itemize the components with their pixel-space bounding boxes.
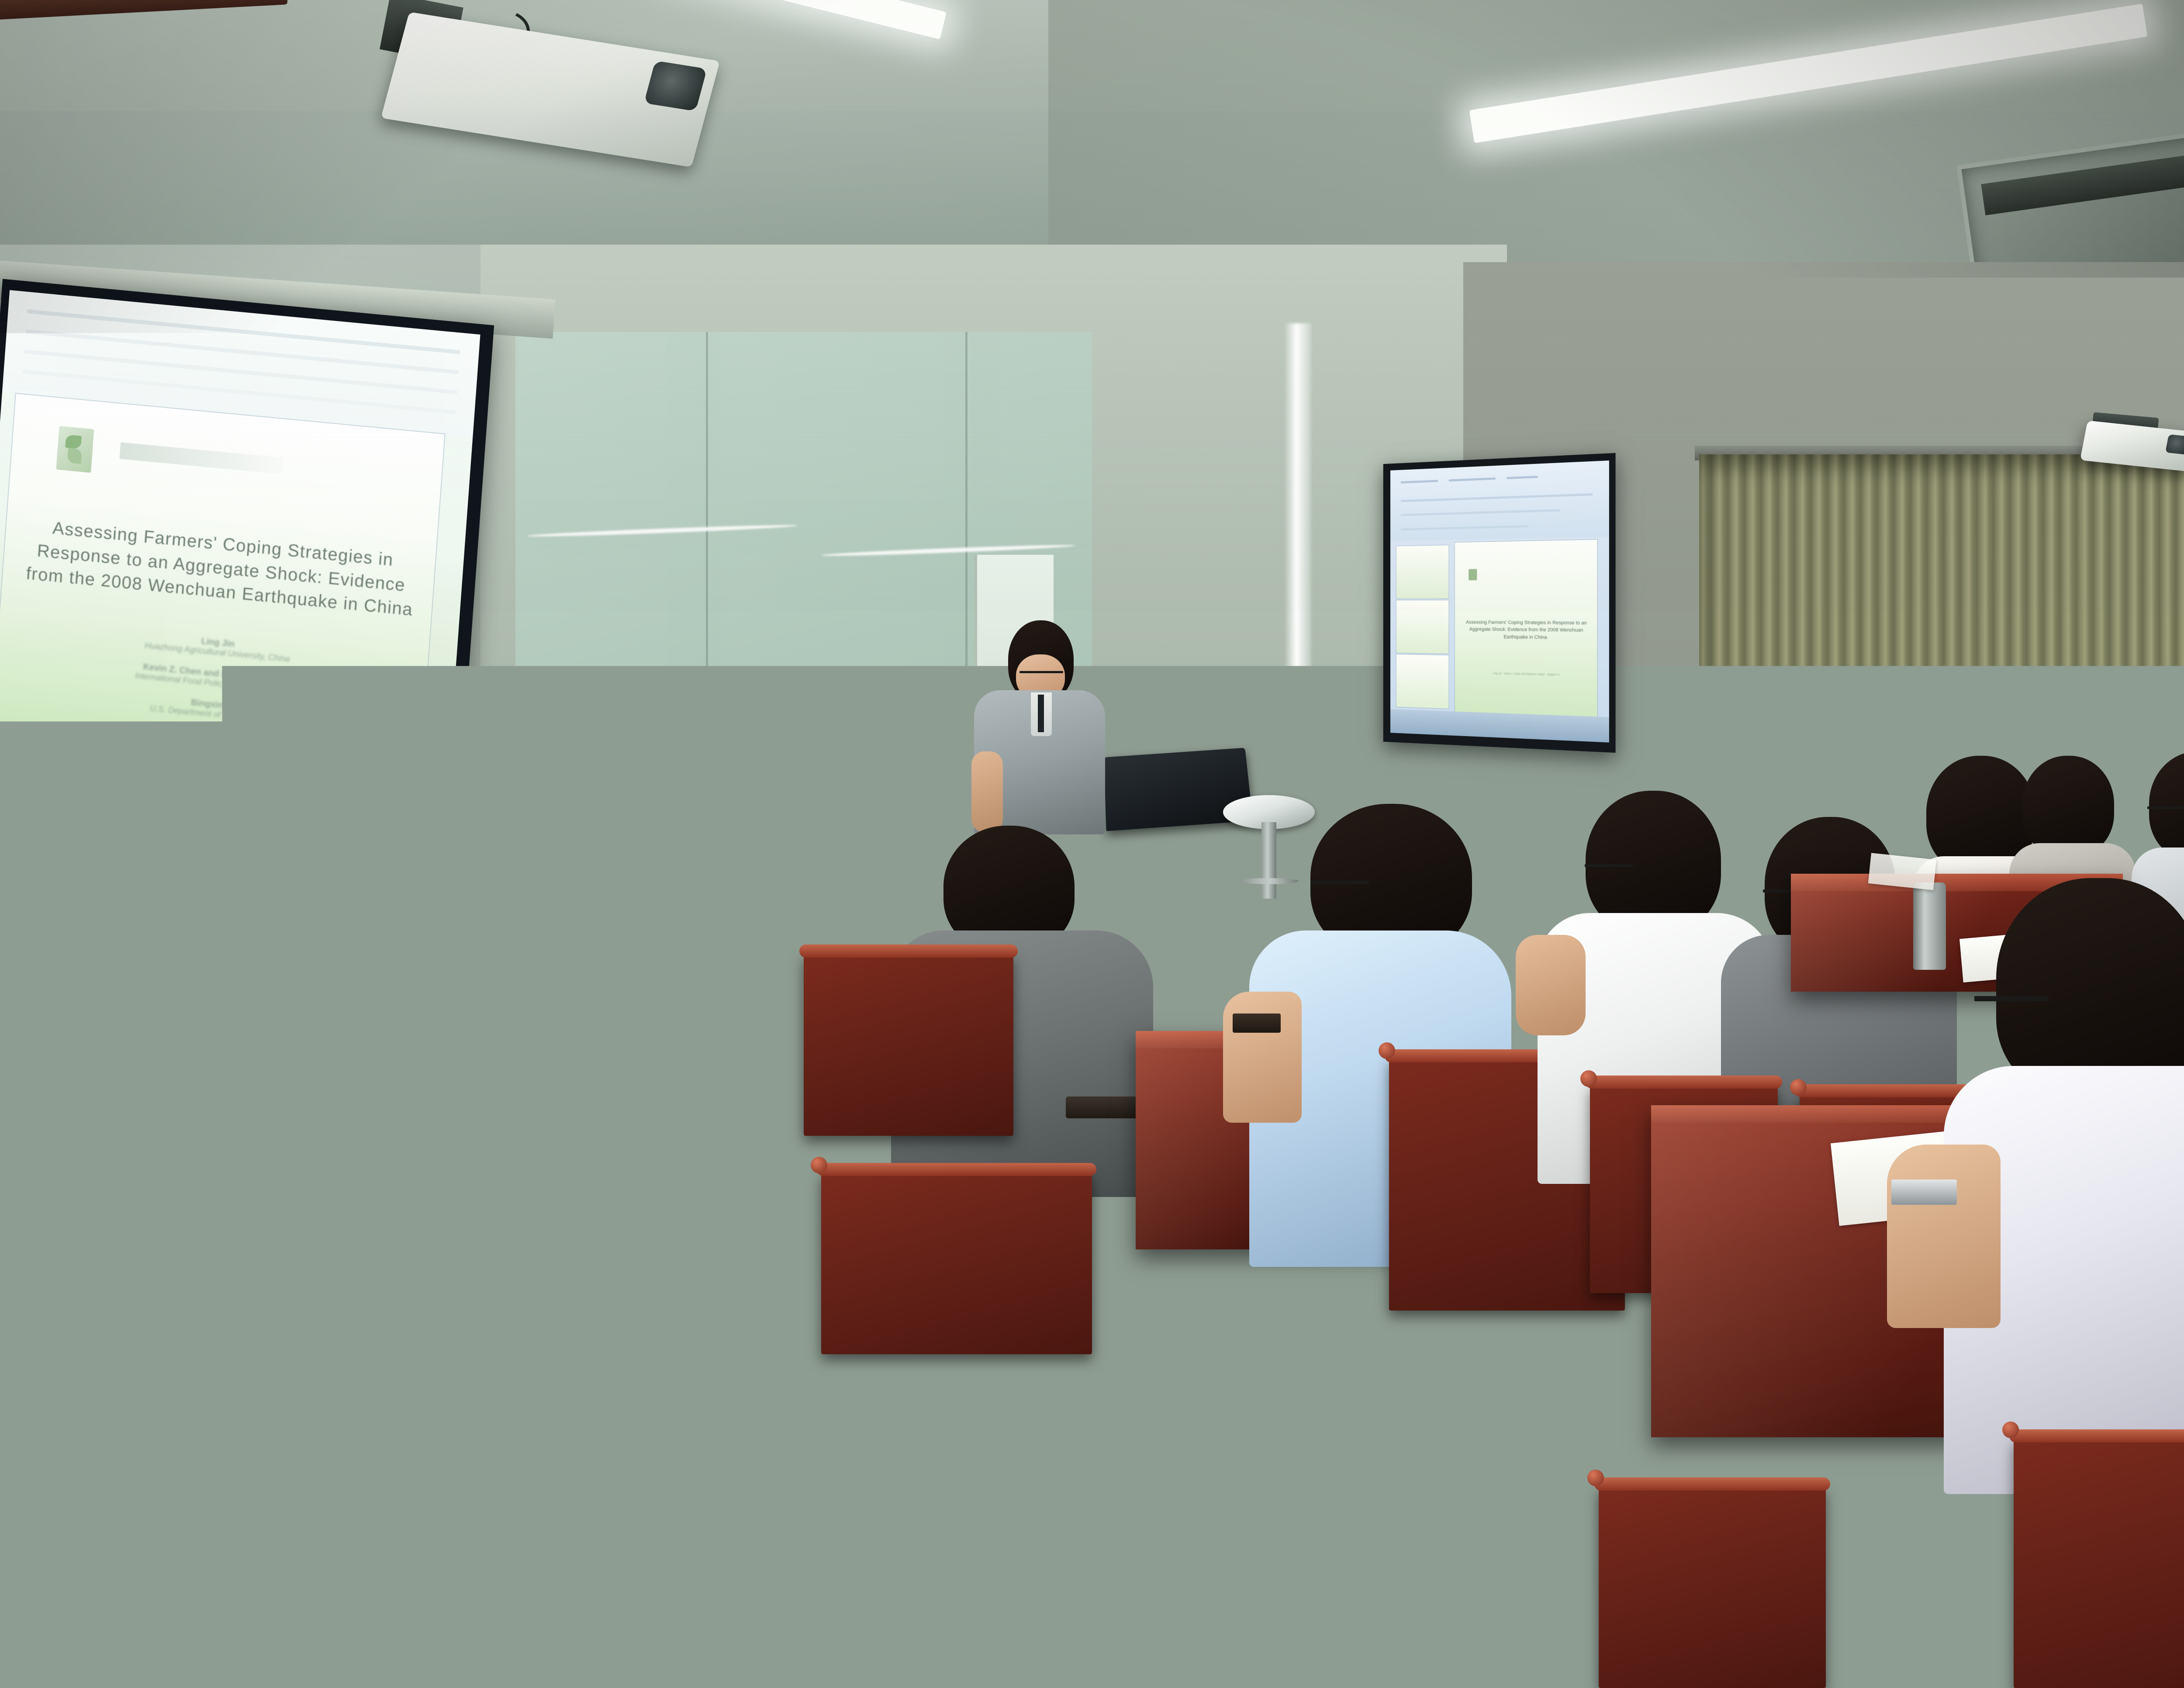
slide-authors: Ling Jin Huazhong Agricultural Universit…: [45, 611, 386, 735]
eyeglasses-icon: [1585, 864, 1633, 867]
presenter-arm: [971, 751, 1003, 832]
university-logo-icon: [56, 426, 94, 473]
head: [2022, 756, 2114, 856]
water-bottle: [186, 1083, 247, 1206]
head: [1996, 878, 2184, 1097]
microphone-icon: [1130, 678, 1147, 695]
bottle-cap: [23, 1080, 85, 1100]
presenter: [974, 620, 1105, 830]
taskbar-clock: 14:28 2015/05/04: [411, 798, 441, 817]
eyeglasses-icon: [1310, 881, 1369, 884]
projector-lens-icon: [644, 61, 707, 111]
wall-mounted-display: Assessing Farmers' Coping Strategies in …: [1383, 453, 1616, 753]
projection-screen: Assessing Farmers' Coping Strategies in …: [0, 279, 494, 844]
bottle-base: [184, 1199, 249, 1215]
arm: [1887, 1145, 2001, 1328]
slide-title: Assessing Farmers' Coping Strategies in …: [24, 514, 418, 622]
wristwatch: [1891, 1180, 1957, 1205]
powerpoint-ribbon: [1390, 460, 1609, 541]
university-wordmark: [119, 442, 283, 474]
wristwatch: [1233, 1013, 1281, 1033]
monitor-slide-authors: Ling Jin · Kevin Z. Chen and Mateusz Fil…: [1474, 671, 1580, 678]
slide-thumbnail[interactable]: [1396, 654, 1448, 709]
eyeglasses-icon: [2147, 806, 2184, 809]
headrest-cushion: [965, 1415, 1026, 1463]
slide-thumbnail[interactable]: [1396, 545, 1448, 598]
slide-editing-pane[interactable]: Assessing Farmers' Coping Strategies in …: [1455, 540, 1597, 725]
university-logo-icon: [1469, 569, 1477, 580]
eyeglasses-icon: [1019, 671, 1063, 673]
seminar-room-photo: Assessing Farmers' Coping Strategies in …: [0, 0, 2184, 1688]
foreground-audience-member: [0, 1394, 489, 1688]
monitor-slide-title: Assessing Farmers' Coping Strategies in …: [1463, 619, 1590, 642]
slide-thumbnail[interactable]: [1396, 600, 1448, 653]
foreground-audience-member: [537, 1145, 1175, 1688]
eyeglasses-icon: [1974, 996, 2049, 1001]
bottle-cap: [183, 1070, 249, 1090]
shirt-button-strip: [1038, 695, 1044, 732]
tray-icons[interactable]: [125, 778, 218, 794]
arm: [1223, 992, 1302, 1123]
chair: [1599, 1485, 1826, 1688]
plaid-shirt: [537, 1477, 1175, 1688]
arm: [1516, 935, 1586, 1035]
maroon-top: [0, 1507, 419, 1688]
belt: [1066, 1097, 1144, 1118]
audience-member: [1918, 878, 2184, 1490]
head: [2149, 751, 2184, 861]
projected-slide: Assessing Farmers' Coping Strategies in …: [0, 394, 445, 782]
water-bottle: [24, 1092, 83, 1197]
red-bag: [1171, 1472, 1398, 1688]
slide-thumbnail-panel[interactable]: [1396, 545, 1448, 716]
chair: [804, 952, 1013, 1136]
chair: [2014, 1437, 2184, 1688]
hair-clip: [793, 872, 854, 897]
projector-lens-icon: [2165, 434, 2184, 455]
paper-cup: [1144, 904, 1177, 939]
